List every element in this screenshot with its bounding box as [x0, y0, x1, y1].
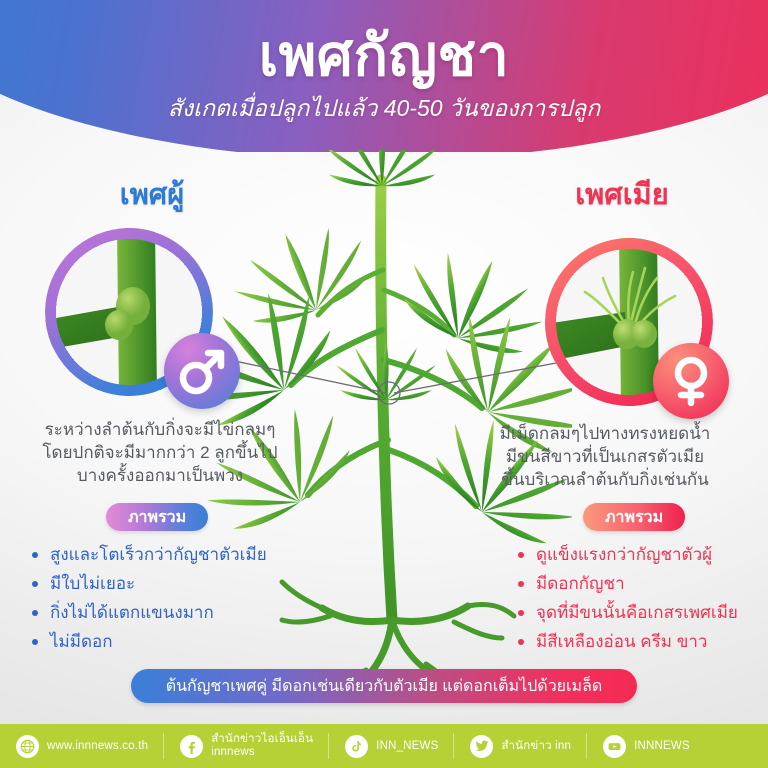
- female-symbol-badge: [653, 343, 729, 419]
- page-subtitle: สังเกตเมื่อปลูกไปแล้ว 40-50 วันของการปลู…: [0, 93, 768, 123]
- youtube-icon: [603, 735, 626, 758]
- footer-item-facebook[interactable]: สำนักข่าวไอเอ็นเอ็น innnews: [164, 724, 329, 768]
- male-overview-pill: ภาพรวม: [106, 503, 208, 531]
- list-item: ดูแข็งแรงกว่ากัญชาตัวผู้: [518, 540, 738, 569]
- female-description-line-3: ขึ้นบริเวณลำต้นกับกิ่งเช่นกัน: [455, 468, 755, 491]
- footer-label-facebook: สำนักข่าวไอเอ็นเอ็น innnews: [211, 733, 329, 759]
- infographic-poster: เพศกัญชา สังเกตเมื่อปลูกไปแล้ว 40-50 วัน…: [0, 0, 768, 768]
- tiktok-icon: [345, 735, 368, 758]
- facebook-icon: [180, 735, 203, 758]
- footer-label-line1: www.innnews.co.th: [47, 740, 148, 752]
- list-item: กิ่งไม่ได้แตกแขนงมาก: [32, 598, 267, 627]
- footer-item-twitter[interactable]: สำนักข่าว inn: [454, 724, 587, 768]
- male-description-line-1: ระหว่างลำต้นกับกิ่งจะมีไข่กลมๆ: [10, 418, 310, 441]
- globe-icon: [16, 735, 39, 758]
- list-item: สูงและโตเร็วกว่ากัญชาตัวเมีย: [32, 540, 267, 569]
- male-description-line-2: โดยปกติจะมีมากกว่า 2 ลูกขึ้นไป: [10, 441, 310, 464]
- female-heading: เพศเมีย: [492, 178, 752, 212]
- bottom-banner: ต้นกัญชาเพศคู่ มีดอกเช่นเดียวกับตัวเมีย …: [131, 669, 637, 703]
- twitter-icon: [470, 735, 493, 758]
- male-heading: เพศผู้: [22, 178, 282, 212]
- footer-label-line2: innnews: [211, 746, 313, 759]
- footer-label-line1: INN_NEWS: [376, 740, 438, 752]
- male-bullet-list: สูงและโตเร็วกว่ากัญชาตัวเมีย มีใบไม่เยอะ…: [32, 540, 267, 656]
- footer-item-tiktok[interactable]: INN_NEWS: [329, 724, 454, 768]
- footer-item-website[interactable]: www.innnews.co.th: [0, 724, 164, 768]
- footer-item-youtube[interactable]: INNNEWS: [587, 724, 706, 768]
- male-symbol-badge: [164, 333, 240, 409]
- list-item: มีดอกกัญชา: [518, 569, 738, 598]
- male-description: ระหว่างลำต้นกับกิ่งจะมีไข่กลมๆ โดยปกติจะ…: [10, 418, 310, 487]
- footer-label-line1: สำนักข่าว inn: [501, 740, 571, 752]
- female-overview-pill: ภาพรวม: [583, 503, 685, 531]
- female-bullet-list: ดูแข็งแรงกว่ากัญชาตัวผู้ มีดอกกัญชา จุดท…: [518, 540, 738, 656]
- footer-label-twitter: สำนักข่าว inn: [501, 740, 587, 753]
- footer-label-line1: INNNEWS: [634, 740, 690, 752]
- footer-label-youtube: INNNEWS: [634, 740, 706, 753]
- list-item: มีสีเหลืองอ่อน ครีม ขาว: [518, 627, 738, 656]
- footer-label-website: www.innnews.co.th: [47, 740, 164, 753]
- footer-label-line1: สำนักข่าวไอเอ็นเอ็น: [211, 733, 313, 745]
- callout-connector-lines: [180, 330, 600, 420]
- footer-bar: www.innnews.co.th สำนักข่าวไอเอ็นเอ็น in…: [0, 724, 768, 768]
- list-item: มีใบไม่เยอะ: [32, 569, 267, 598]
- female-description: มีเม็ดกลมๆไปทางทรงหยดน้ำ มีขนสีขาวที่เป็…: [455, 422, 755, 491]
- list-item: ไม่มีดอก: [32, 627, 267, 656]
- male-description-line-3: บางครั้งออกมาเป็นพวง: [10, 464, 310, 487]
- male-symbol-icon: [175, 344, 229, 398]
- page-title: เพศกัญชา: [0, 24, 768, 88]
- footer-label-tiktok: INN_NEWS: [376, 740, 454, 753]
- list-item: จุดที่มีขนนั้นคือเกสรเพศเมีย: [518, 598, 738, 627]
- female-description-line-2: มีขนสีขาวที่เป็นเกสรตัวเมีย: [455, 445, 755, 468]
- female-description-line-1: มีเม็ดกลมๆไปทางทรงหยดน้ำ: [455, 422, 755, 445]
- female-symbol-icon: [664, 354, 718, 408]
